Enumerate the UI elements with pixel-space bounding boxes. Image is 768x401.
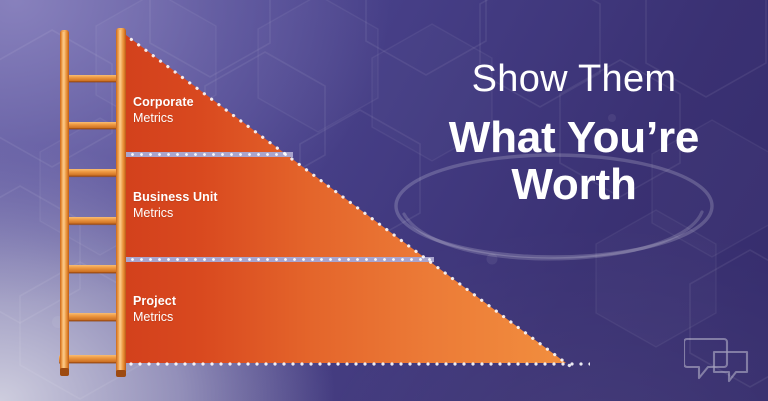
band-title: Corporate [133,95,194,111]
band-separator-1 [122,152,293,157]
band-label-corporate: Corporate Metrics [133,95,194,126]
dotted-horizontal-line-icon [120,362,590,366]
headline-line-3: Worth [398,161,750,209]
band-subtitle: Metrics [133,310,176,326]
band-title: Business Unit [133,190,218,206]
ladder-icon [56,28,134,378]
headline-block: Show Them What You’re Worth [398,60,750,209]
band-subtitle: Metrics [133,206,218,222]
headline-line-1: Show Them [398,60,750,100]
band-label-business: Business Unit Metrics [133,190,218,221]
speech-bubbles-icon [684,335,750,387]
promo-banner: Corporate Metrics Business Unit Metrics … [0,0,768,401]
band-title: Project [133,294,176,310]
band-subtitle: Metrics [133,111,194,127]
band-label-project: Project Metrics [133,294,176,325]
headline-line-2: What You’re [398,114,750,162]
band-separator-2 [122,257,434,262]
